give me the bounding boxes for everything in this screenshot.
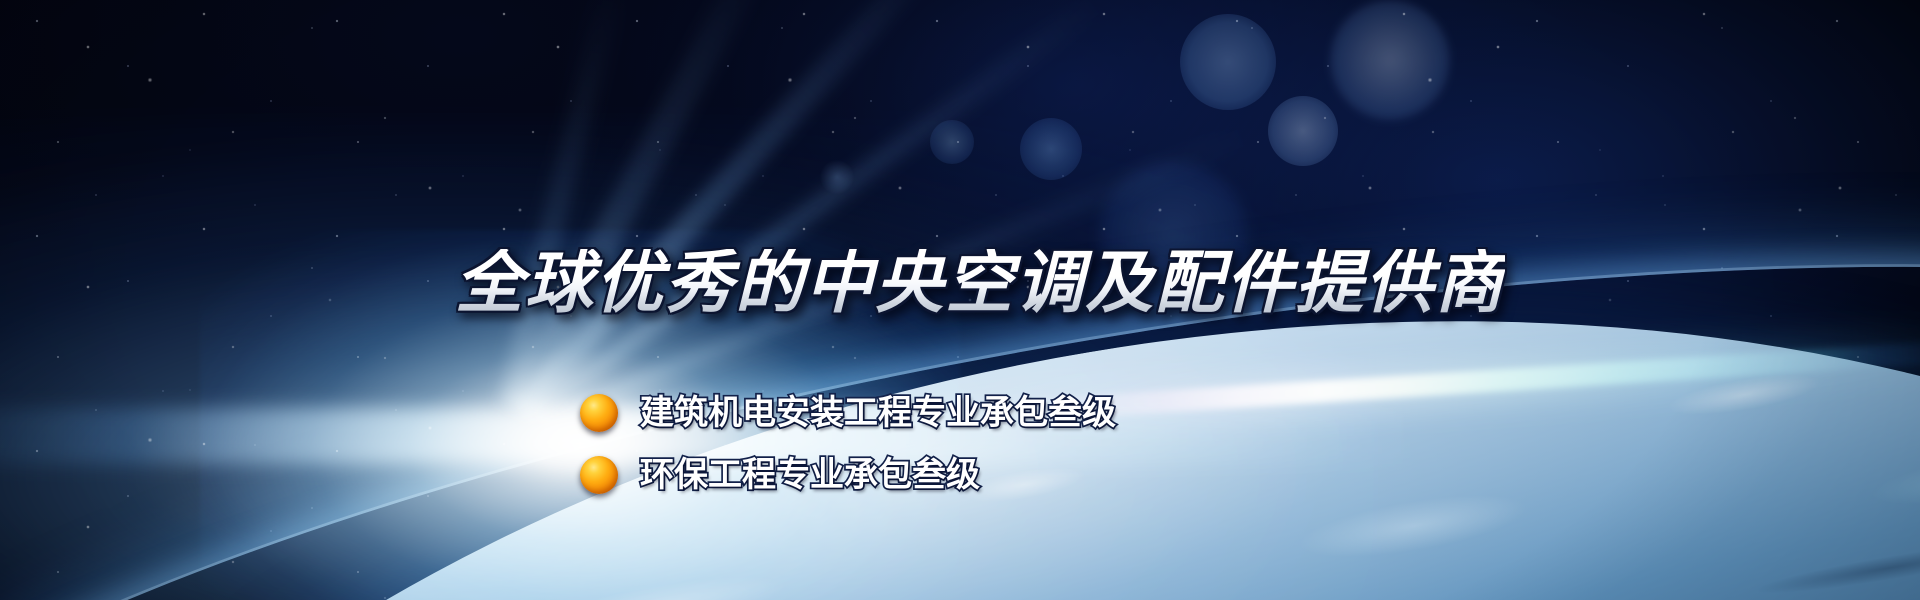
hero-banner: 全球优秀的中央空调及配件提供商 建筑机电安装工程专业承包叁级 环保工程专业承包叁… — [0, 0, 1920, 600]
banner-content: 全球优秀的中央空调及配件提供商 建筑机电安装工程专业承包叁级 环保工程专业承包叁… — [0, 0, 1920, 600]
bullet-item: 建筑机电安装工程专业承包叁级 — [580, 382, 1116, 444]
bullet-label: 环保工程专业承包叁级 — [640, 458, 980, 492]
orange-dot-bullet-icon — [580, 394, 618, 432]
bullet-label: 建筑机电安装工程专业承包叁级 — [640, 396, 1116, 430]
orange-dot-bullet-icon — [580, 456, 618, 494]
banner-bullet-list: 建筑机电安装工程专业承包叁级 环保工程专业承包叁级 — [580, 382, 1116, 506]
bullet-item: 环保工程专业承包叁级 — [580, 444, 1116, 506]
banner-headline: 全球优秀的中央空调及配件提供商 — [455, 249, 1505, 317]
